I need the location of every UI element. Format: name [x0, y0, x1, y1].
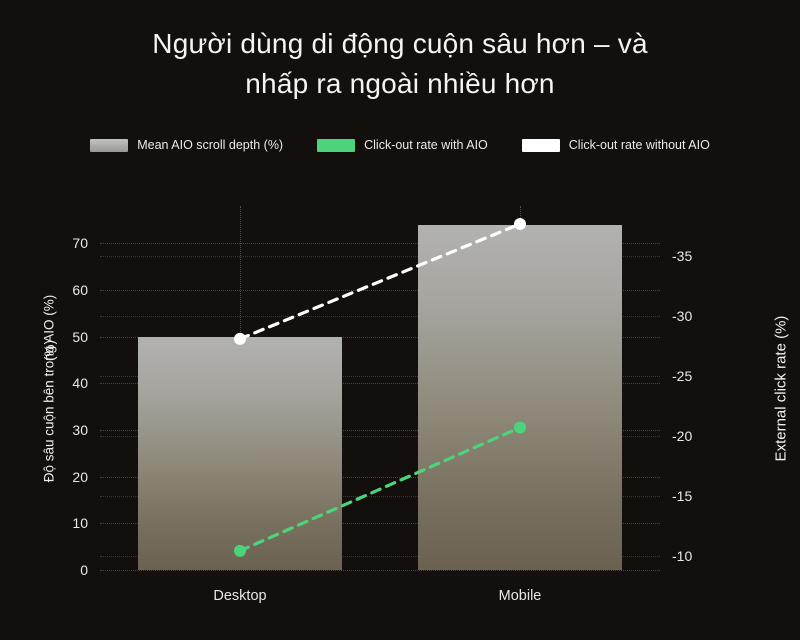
y-axis-right-title: External click rate (%) — [770, 206, 792, 570]
legend-swatch-clickout-with-aio — [317, 139, 355, 152]
legend-item-clickout-without-aio[interactable]: Click-out rate without AIO — [522, 138, 710, 152]
y-tick-right-neg30: -30 — [672, 308, 692, 324]
chart-title: Người dùng di động cuộn sâu hơn – và nhấ… — [0, 24, 800, 104]
x-tick-mobile: Mobile — [499, 588, 542, 604]
y-tick-right-neg20: -20 — [672, 428, 692, 444]
y-tick-right-neg10: -10 — [672, 548, 692, 564]
y-tick-left-10: 10 — [72, 515, 88, 531]
legend-swatch-scroll-depth — [90, 139, 128, 152]
legend-label-clickout-without-aio: Click-out rate without AIO — [569, 138, 710, 152]
gridline-left — [100, 570, 660, 571]
chart-canvas: Người dùng di động cuộn sâu hơn – và nhấ… — [0, 0, 800, 640]
chart-legend: Mean AIO scroll depth (%) Click-out rate… — [0, 138, 800, 152]
line-click-out-rate-without-aio — [240, 224, 520, 339]
legend-swatch-clickout-without-aio — [522, 139, 560, 152]
y-tick-left-40: 40 — [72, 375, 88, 391]
datapoint-click-out-rate-without-aio-mobile[interactable] — [514, 218, 526, 230]
line-series-layer — [100, 206, 660, 570]
plot-area — [100, 206, 660, 570]
y-tick-right-neg35: -35 — [672, 248, 692, 264]
datapoint-click-out-rate-with-aio-desktop[interactable] — [234, 545, 246, 557]
x-tick-desktop: Desktop — [213, 588, 266, 604]
legend-item-clickout-with-aio[interactable]: Click-out rate with AIO — [317, 138, 488, 152]
y-axis-left-title-overlap: (%) — [42, 340, 57, 361]
y-tick-right-neg15: -15 — [672, 488, 692, 504]
y-tick-left-70: 70 — [72, 235, 88, 251]
y-tick-left-30: 30 — [72, 422, 88, 438]
line-click-out-rate-with-aio — [240, 428, 520, 551]
y-tick-right-neg25: -25 — [672, 368, 692, 384]
chart-title-line-2: nhấp ra ngoài nhiều hơn — [0, 64, 800, 104]
y-tick-left-20: 20 — [72, 469, 88, 485]
legend-label-scroll-depth: Mean AIO scroll depth (%) — [137, 138, 283, 152]
chart-title-line-1: Người dùng di động cuộn sâu hơn – và — [0, 24, 800, 64]
legend-item-scroll-depth[interactable]: Mean AIO scroll depth (%) — [90, 138, 283, 152]
y-tick-left-0: 0 — [80, 562, 88, 578]
y-tick-left-60: 60 — [72, 282, 88, 298]
y-axis-left-title-text: Độ sâu cuộn bên trong AIO (%) — [42, 294, 57, 482]
y-tick-left-50: 50 — [72, 329, 88, 345]
y-axis-right-title-text: External click rate (%) — [773, 315, 790, 461]
datapoint-click-out-rate-without-aio-desktop[interactable] — [234, 333, 246, 345]
datapoint-click-out-rate-with-aio-mobile[interactable] — [514, 422, 526, 434]
legend-label-clickout-with-aio: Click-out rate with AIO — [364, 138, 488, 152]
y-axis-left-title: Độ sâu cuộn bên trong AIO (%) (%) — [38, 206, 60, 570]
